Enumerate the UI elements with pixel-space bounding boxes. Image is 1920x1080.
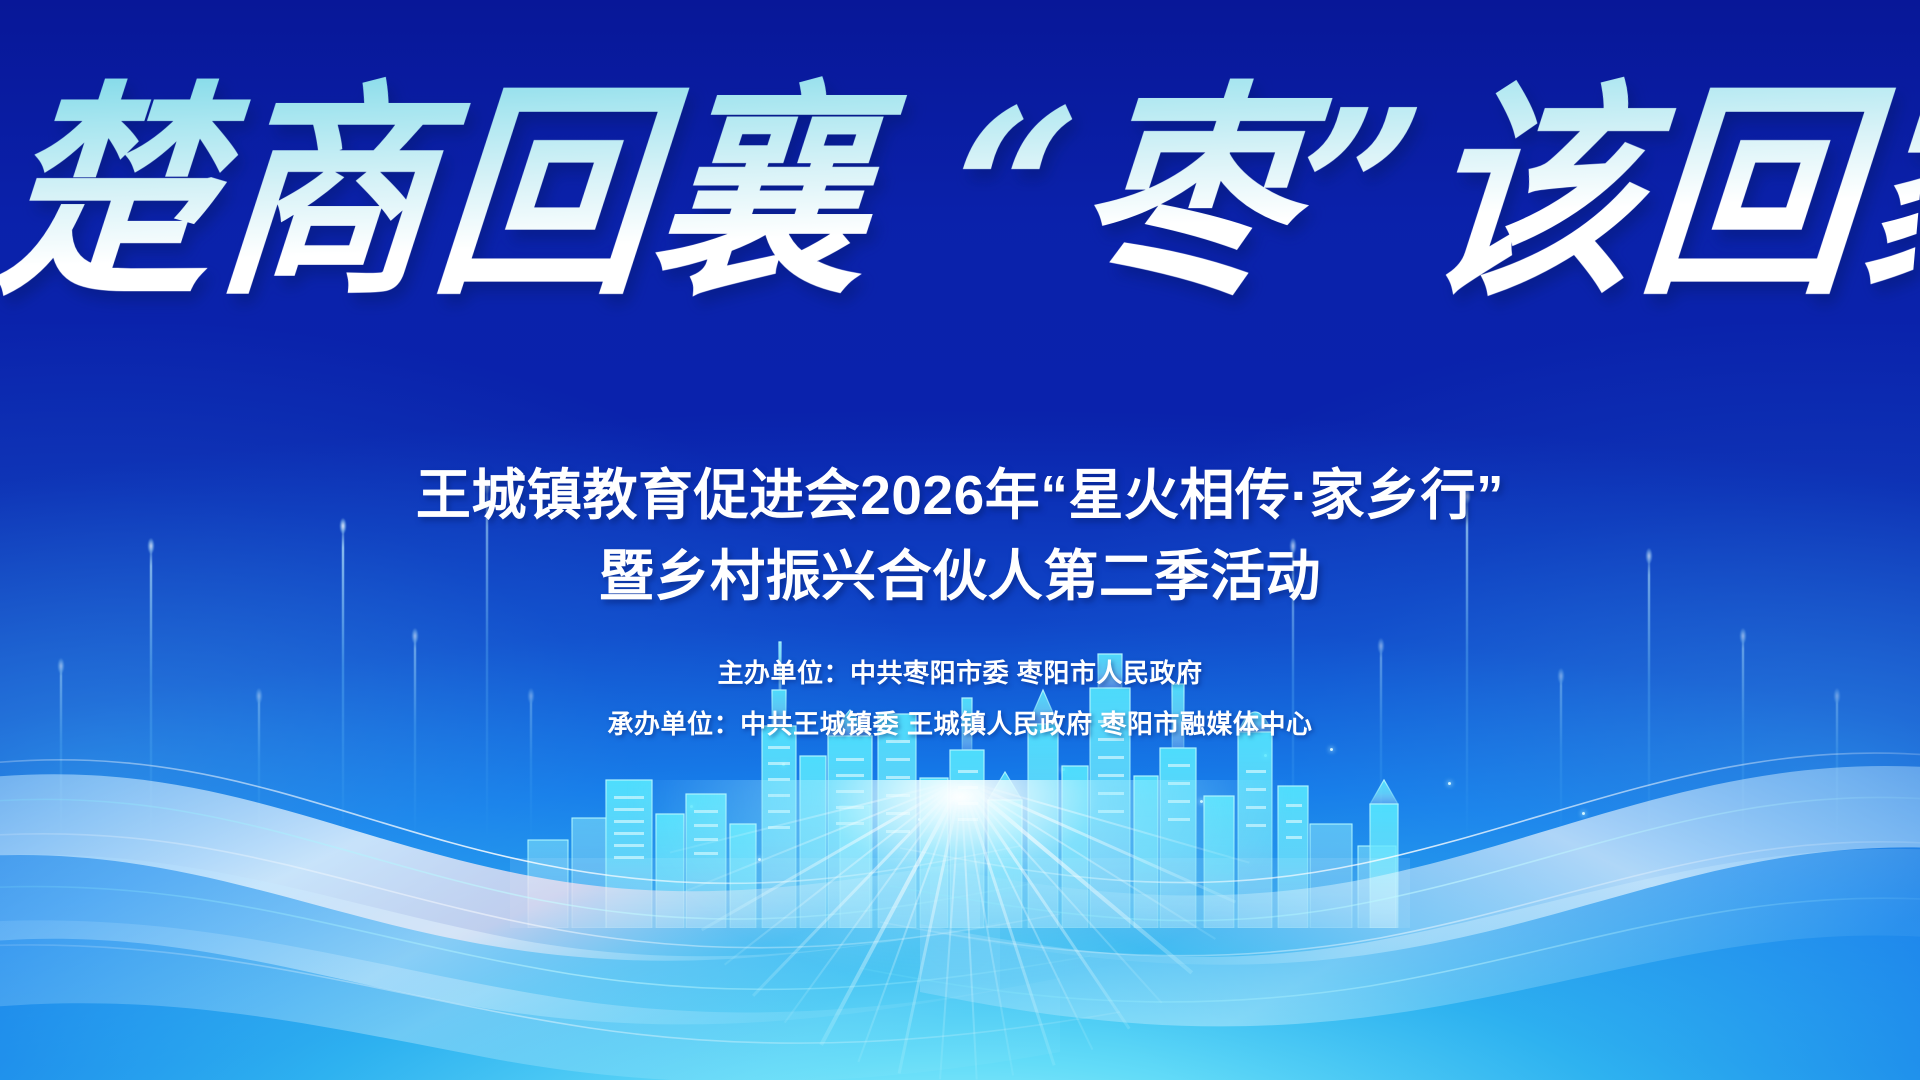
subtitle-line-1: 王城镇教育促进会2026年“星火相传·家乡行” <box>416 464 1504 526</box>
co-organizer-line: 承办单位：中共王城镇委 王城镇人民政府 枣阳市融媒体中心 <box>0 699 1920 750</box>
subtitle-line-2: 暨乡村振兴合伙人第二季活动 <box>0 536 1920 617</box>
organizer-line: 主办单位：中共枣阳市委 枣阳市人民政府 <box>0 648 1920 699</box>
event-banner-poster: 楚商回襄 “枣”该回家 王城镇教育促进会2026年“星火相传·家乡行” 暨乡村振… <box>0 0 1920 1080</box>
subtitle-block: 王城镇教育促进会2026年“星火相传·家乡行” 暨乡村振兴合伙人第二季活动 <box>0 455 1920 618</box>
banner-content: 楚商回襄 “枣”该回家 王城镇教育促进会2026年“星火相传·家乡行” 暨乡村振… <box>0 0 1920 1080</box>
main-title: 楚商回襄 “枣”该回家 <box>0 71 1920 316</box>
organizer-block: 主办单位：中共枣阳市委 枣阳市人民政府 承办单位：中共王城镇委 王城镇人民政府 … <box>0 648 1920 749</box>
